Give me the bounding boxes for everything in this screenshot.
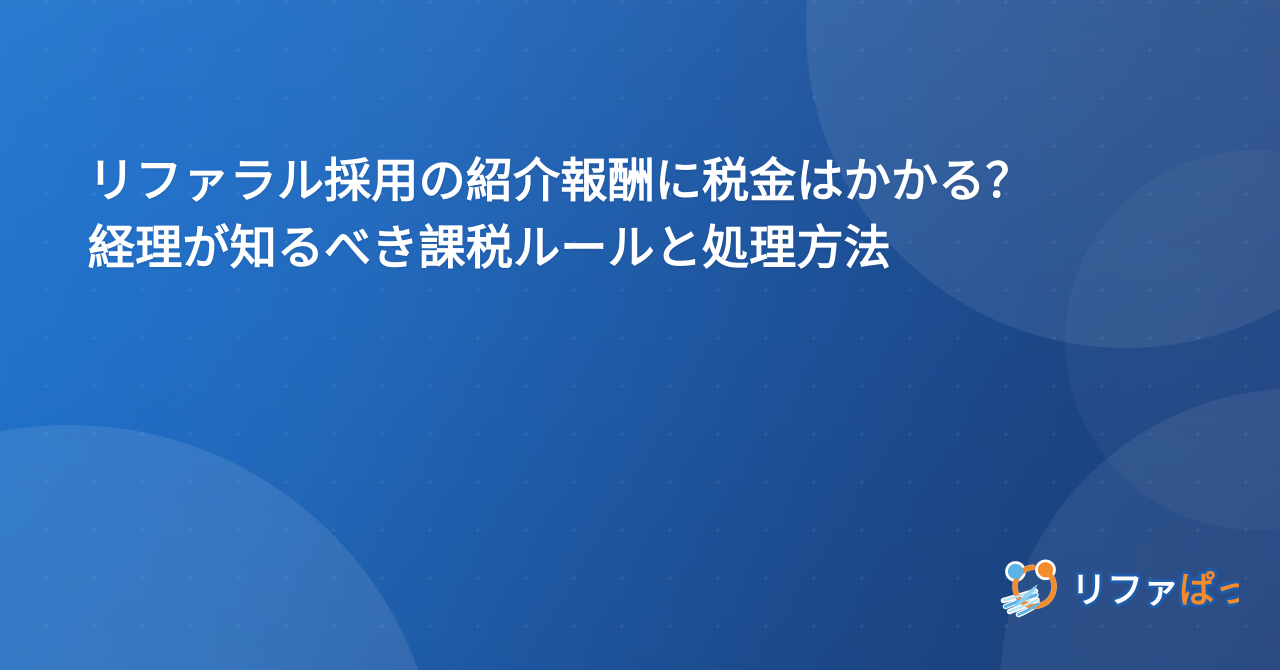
ogp-card: リファラル採用の紹介報酬に税金はかかる？ 経理が知るべき課税ルールと処理方法 bbox=[0, 0, 1280, 670]
comet-swirl-icon bbox=[998, 556, 1064, 622]
page-title: リファラル採用の紹介報酬に税金はかかる？ 経理が知るべき課税ルールと処理方法 bbox=[88, 148, 1198, 281]
svg-text:リファぱっと: リファぱっと bbox=[1071, 569, 1239, 610]
title-block: リファラル採用の紹介報酬に税金はかかる？ 経理が知るべき課税ルールと処理方法 bbox=[88, 148, 1198, 281]
logo[interactable]: リファぱっと bbox=[998, 556, 1239, 622]
wordmark-part-1: リファ bbox=[1071, 569, 1179, 610]
logo-wordmark: リファぱっと bbox=[1071, 563, 1239, 615]
wordmark-part-2: ぱっ bbox=[1179, 569, 1239, 610]
